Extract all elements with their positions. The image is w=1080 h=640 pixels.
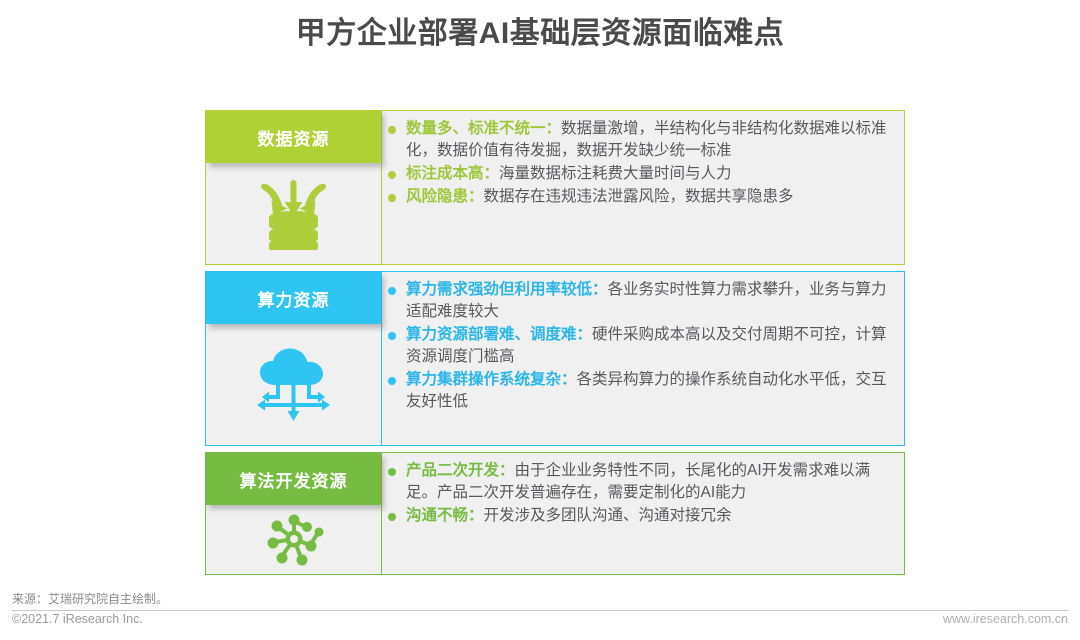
footer-bar: ©2021.7 iResearch Inc. www.iresearch.com… [12,612,1068,626]
bullet-text: 数据存在违规违法泄露风险，数据共享隐患多 [484,188,794,205]
content-board: 数据资源 [205,110,905,581]
copyright-text: ©2021.7 iResearch Inc. [12,612,143,626]
section-icon-wrap [206,324,381,445]
bullet-list: 算力需求强劲但利用率较低：各业务实时性算力需求攀升，业务与算力适配难度较大 算力… [386,279,892,413]
source-note: 来源：艾瑞研究院自主绘制。 [12,590,1068,611]
bullet-lead: 标注成本高： [406,165,499,182]
section-badge-compute-resource[interactable]: 算力资源 [206,272,381,324]
section-icon-wrap [206,505,381,574]
bullet-item: 算力资源部署难、调度难：硬件采购成本高以及交付周期不可控，计算资源调度门槛高 [386,324,892,368]
node-network-icon [261,509,327,569]
section-bullets-algorithm-resource: 产品二次开发：由于企业业务特性不同，长尾化的AI开发需求难以满足。产品二次开发普… [381,453,904,574]
section-badge-data-resource[interactable]: 数据资源 [206,111,381,163]
section-badge-algorithm-resource[interactable]: 算法开发资源 [206,453,381,505]
website-link[interactable]: www.iresearch.com.cn [943,612,1068,626]
section-panel-compute-resource: 算力资源 [205,271,905,446]
section-bullets-data-resource: 数量多、标准不统一：数据量激增，半结构化与非结构化数据难以标准化，数据价值有待发… [381,111,904,264]
bullet-lead: 产品二次开发： [406,462,515,479]
section-panel-algorithm-resource: 算法开发资源 [205,452,905,575]
bullet-list: 数量多、标准不统一：数据量激增，半结构化与非结构化数据难以标准化，数据价值有待发… [386,118,892,208]
bullet-item: 算力集群操作系统复杂：各类异构算力的操作系统自动化水平低，交互友好性低 [386,369,892,413]
page-title: 甲方企业部署AI基础层资源面临难点 [0,16,1080,52]
bullet-text: 海量数据标注耗费大量时间与人力 [499,165,732,182]
section-bullets-compute-resource: 算力需求强劲但利用率较低：各业务实时性算力需求攀升，业务与算力适配难度较大 算力… [381,272,904,445]
database-inflow-icon [255,178,333,250]
section-badge-label: 算法开发资源 [240,467,348,492]
bullet-lead: 沟通不畅： [406,507,484,524]
bullet-text: 开发涉及多团队沟通、沟通对接冗余 [484,507,732,524]
bullet-item: 沟通不畅：开发涉及多团队沟通、沟通对接冗余 [386,505,892,527]
bullet-item: 标注成本高：海量数据标注耗费大量时间与人力 [386,163,892,185]
bullet-lead: 数量多、标准不统一： [406,120,561,137]
section-icon-wrap [206,163,381,264]
bullet-item: 数量多、标准不统一：数据量激增，半结构化与非结构化数据难以标准化，数据价值有待发… [386,118,892,162]
bullet-list: 产品二次开发：由于企业业务特性不同，长尾化的AI开发需求难以满足。产品二次开发普… [386,460,892,527]
bullet-item: 算力需求强劲但利用率较低：各业务实时性算力需求攀升，业务与算力适配难度较大 [386,279,892,323]
section-badge-label: 数据资源 [258,125,330,150]
bullet-item: 产品二次开发：由于企业业务特性不同，长尾化的AI开发需求难以满足。产品二次开发普… [386,460,892,504]
bullet-lead: 算力集群操作系统复杂： [406,371,577,388]
section-panel-data-resource: 数据资源 [205,110,905,265]
cloud-distribution-icon [252,347,336,423]
bullet-lead: 风险隐患： [406,188,484,205]
bullet-item: 风险隐患：数据存在违规违法泄露风险，数据共享隐患多 [386,186,892,208]
section-badge-label: 算力资源 [258,286,330,311]
section-left-column: 数据资源 [206,111,381,264]
section-left-column: 算法开发资源 [206,453,381,574]
bullet-lead: 算力资源部署难、调度难： [406,326,592,343]
bullet-lead: 算力需求强劲但利用率较低： [406,281,608,298]
title-bar: 甲方企业部署AI基础层资源面临难点 [0,0,1080,52]
section-left-column: 算力资源 [206,272,381,445]
